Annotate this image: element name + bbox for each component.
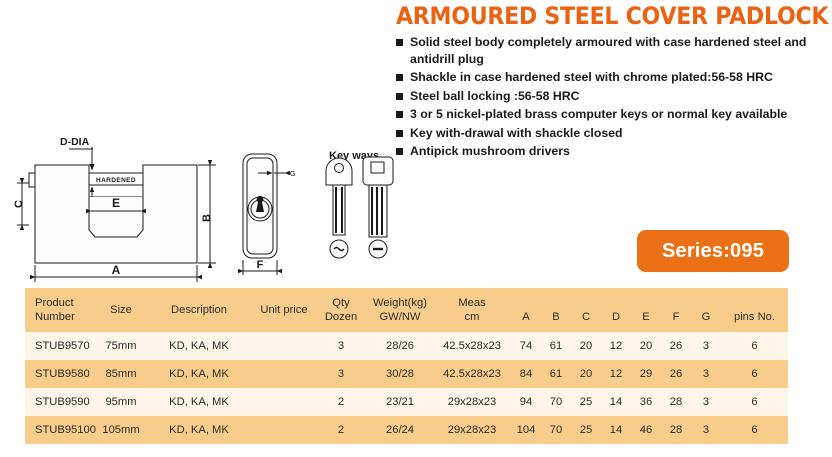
cell-c: 20 — [571, 332, 601, 360]
list-item: Steel ball locking :56-58 HRC — [396, 88, 826, 105]
column-header-g: G — [691, 288, 721, 332]
cell-description: KD, KA, MK — [145, 416, 253, 444]
cell-f: 26 — [661, 332, 691, 360]
cell-meas: 29x28x23 — [433, 388, 511, 416]
column-header-qty-dozen: Qty Dozen — [315, 288, 367, 332]
column-header-f: F — [661, 288, 691, 332]
cell-pins-no: 6 — [721, 360, 788, 388]
cell-c: 25 — [571, 416, 601, 444]
cell-weight: 26/24 — [367, 416, 433, 444]
column-header-e: E — [631, 288, 661, 332]
cell-qty-dozen: 3 — [315, 360, 367, 388]
cell-qty-dozen: 2 — [315, 416, 367, 444]
column-header-size: Size — [97, 288, 145, 332]
square-bullet-icon — [396, 39, 403, 46]
cell-weight: 23/21 — [367, 388, 433, 416]
list-item: Solid steel body completely armoured wit… — [396, 34, 826, 67]
cell-e: 46 — [631, 416, 661, 444]
cell-b: 70 — [541, 388, 571, 416]
cell-pins-no: 6 — [721, 416, 788, 444]
cell-pins-no: 6 — [721, 332, 788, 360]
cell-description: KD, KA, MK — [145, 388, 253, 416]
dim-label-b: B — [201, 214, 213, 222]
list-item: Antipick mushroom drivers — [396, 143, 826, 160]
cell-c: 20 — [571, 360, 601, 388]
table-row: STUB9570 75mm KD, KA, MK 3 28/26 42.5x28… — [25, 332, 788, 360]
table-row: STUB9590 95mm KD, KA, MK 2 23/21 29x28x2… — [25, 388, 788, 416]
feature-text: Steel ball locking :56-58 HRC — [410, 88, 579, 105]
feature-text: Shackle in case hardened steel with chro… — [410, 69, 773, 86]
cell-product-number: STUB95100 — [25, 416, 97, 444]
cell-weight: 30/28 — [367, 360, 433, 388]
cell-product-number: STUB9590 — [25, 388, 97, 416]
cell-product-number: STUB9570 — [25, 332, 97, 360]
cell-qty-dozen: 2 — [315, 388, 367, 416]
cell-d: 14 — [601, 388, 631, 416]
specification-table: Product Number Size Description Unit pri… — [25, 288, 788, 444]
cell-d: 14 — [601, 416, 631, 444]
list-item: Shackle in case hardened steel with chro… — [396, 69, 826, 86]
cell-b: 70 — [541, 416, 571, 444]
series-badge: Series:095 — [637, 230, 789, 272]
d-dia-label: D-DIA — [60, 136, 90, 148]
cell-description: KD, KA, MK — [145, 332, 253, 360]
hardened-label: HARDENED — [96, 177, 136, 184]
feature-text: Key with-drawal with shackle closed — [410, 125, 623, 142]
dim-label-a: A — [112, 263, 121, 277]
cell-meas: 42.5x28x23 — [433, 332, 511, 360]
square-bullet-icon — [396, 93, 403, 100]
column-header-product-number: Product Number — [25, 288, 97, 332]
cell-size: 95mm — [97, 388, 145, 416]
page-title: ARMOURED STEEL COVER PADLOCK — [396, 2, 828, 30]
cell-a: 84 — [511, 360, 541, 388]
cell-d: 12 — [601, 332, 631, 360]
cell-e: 36 — [631, 388, 661, 416]
cell-b: 61 — [541, 332, 571, 360]
dim-label-e: E — [112, 196, 120, 210]
cell-unit-price — [253, 388, 315, 416]
cell-qty-dozen: 3 — [315, 332, 367, 360]
cell-size: 75mm — [97, 332, 145, 360]
column-header-description: Description — [145, 288, 253, 332]
cell-size: 105mm — [97, 416, 145, 444]
cell-unit-price — [253, 332, 315, 360]
cell-a: 74 — [511, 332, 541, 360]
cell-unit-price — [253, 416, 315, 444]
cell-g: 3 — [691, 416, 721, 444]
column-header-d: D — [601, 288, 631, 332]
cell-a: 104 — [511, 416, 541, 444]
cell-f: 26 — [661, 360, 691, 388]
column-header-b: B — [541, 288, 571, 332]
table-header-row: Product Number Size Description Unit pri… — [25, 288, 788, 332]
square-bullet-icon — [396, 74, 403, 81]
feature-text: Antipick mushroom drivers — [410, 143, 570, 160]
dim-label-c: C — [13, 200, 25, 208]
cell-g: 3 — [691, 388, 721, 416]
cell-meas: 42.5x28x23 — [433, 360, 511, 388]
cell-g: 3 — [691, 360, 721, 388]
feature-text: Solid steel body completely armoured wit… — [410, 34, 826, 67]
cell-f: 28 — [661, 416, 691, 444]
column-header-c: C — [571, 288, 601, 332]
cell-c: 25 — [571, 388, 601, 416]
cell-pins-no: 6 — [721, 388, 788, 416]
cell-unit-price — [253, 360, 315, 388]
column-header-unit-price: Unit price — [253, 288, 315, 332]
cell-e: 20 — [631, 332, 661, 360]
feature-text: 3 or 5 nickel-plated brass computer keys… — [410, 106, 787, 123]
column-header-weight: Weight(kg) GW/NW — [367, 288, 433, 332]
cell-e: 29 — [631, 360, 661, 388]
list-item: 3 or 5 nickel-plated brass computer keys… — [396, 106, 826, 123]
column-header-meas: Meas cm — [433, 288, 511, 332]
table-row: STUB9580 85mm KD, KA, MK 3 30/28 42.5x28… — [25, 360, 788, 388]
column-header-a: A — [511, 288, 541, 332]
list-item: Key with-drawal with shackle closed — [396, 125, 826, 142]
cell-meas: 29x28x23 — [433, 416, 511, 444]
dim-label-g: G — [290, 171, 295, 178]
technical-drawing: D-DIA HARDENED C E B A F G — [0, 125, 400, 285]
cell-product-number: STUB9580 — [25, 360, 97, 388]
cell-f: 28 — [661, 388, 691, 416]
cell-d: 12 — [601, 360, 631, 388]
column-header-pins-no: pins No. — [721, 288, 788, 332]
cell-description: KD, KA, MK — [145, 360, 253, 388]
feature-list: Solid steel body completely armoured wit… — [396, 34, 826, 162]
cell-a: 94 — [511, 388, 541, 416]
cell-weight: 28/26 — [367, 332, 433, 360]
cell-g: 3 — [691, 332, 721, 360]
cell-b: 61 — [541, 360, 571, 388]
table-row: STUB95100 105mm KD, KA, MK 2 26/24 29x28… — [25, 416, 788, 444]
cell-size: 85mm — [97, 360, 145, 388]
dim-label-f: F — [257, 259, 264, 271]
square-bullet-icon — [396, 111, 403, 118]
